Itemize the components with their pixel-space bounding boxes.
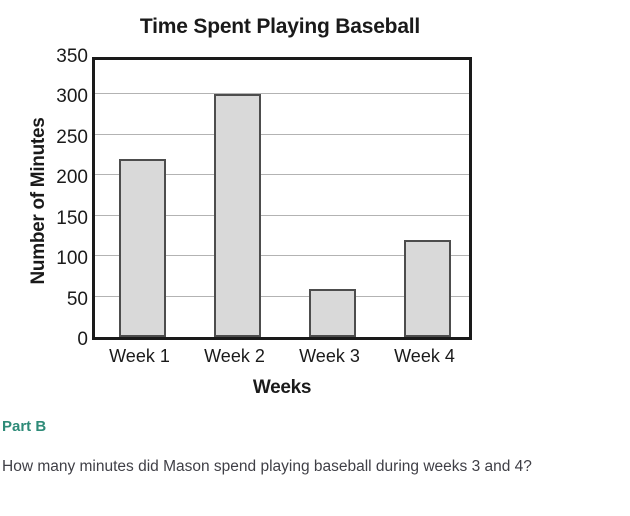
x-tick-label: Week 1 bbox=[92, 346, 187, 367]
y-tick-label: 0 bbox=[36, 330, 88, 349]
x-tick-label: Week 2 bbox=[187, 346, 282, 367]
gridline bbox=[95, 93, 469, 94]
bar bbox=[309, 289, 356, 338]
gridline bbox=[95, 134, 469, 135]
plot-area bbox=[92, 57, 472, 340]
y-tick-label: 150 bbox=[36, 209, 88, 228]
chart-title: Time Spent Playing Baseball bbox=[0, 15, 560, 39]
part-label: Part B bbox=[2, 418, 614, 436]
bar bbox=[214, 94, 261, 337]
y-axis-tick-labels: 050100150200250300350 bbox=[32, 57, 88, 340]
bar bbox=[404, 240, 451, 337]
bar-chart-figure: Time Spent Playing Baseball Number of Mi… bbox=[0, 0, 630, 400]
bar bbox=[119, 159, 166, 337]
x-tick-label: Week 4 bbox=[377, 346, 472, 367]
y-tick-label: 200 bbox=[36, 168, 88, 187]
question-block: Part B How many minutes did Mason spend … bbox=[2, 418, 614, 480]
y-tick-label: 350 bbox=[36, 47, 88, 66]
y-tick-label: 250 bbox=[36, 128, 88, 147]
y-tick-label: 50 bbox=[36, 290, 88, 309]
x-tick-label: Week 3 bbox=[282, 346, 377, 367]
y-tick-label: 100 bbox=[36, 249, 88, 268]
question-text: How many minutes did Mason spend playing… bbox=[2, 454, 602, 480]
x-axis-title: Weeks bbox=[92, 377, 472, 399]
y-tick-label: 300 bbox=[36, 87, 88, 106]
